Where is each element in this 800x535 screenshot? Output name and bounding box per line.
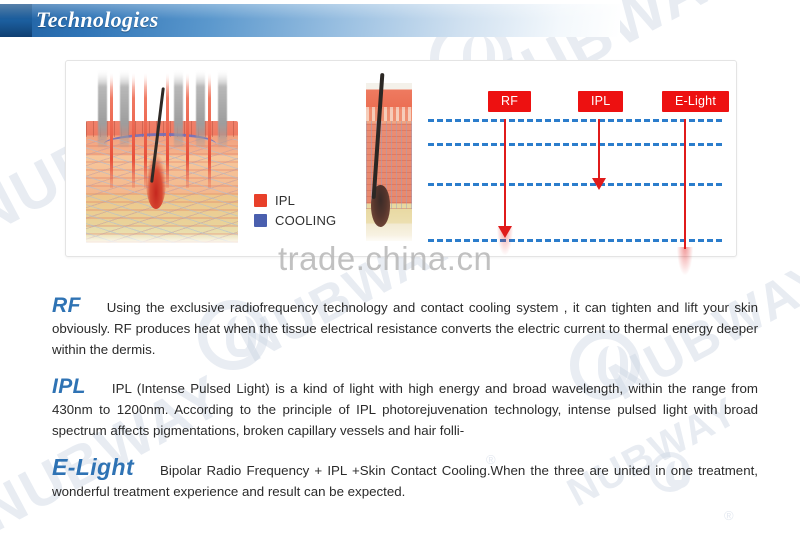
arrowhead-icon [592,178,606,190]
legend-item-ipl: IPL [254,193,336,208]
page-title: Technologies [36,7,159,33]
section-body-rf: Using the exclusive radiofrequency techn… [52,300,758,357]
section-body-e-light: Bipolar Radio Frequency + IPL +Skin Cont… [52,463,758,499]
ipl-ray [208,73,211,188]
square-swatch-icon [254,194,267,207]
legend-item-label: COOLING [275,213,336,228]
depth-label-e-light: E-Light [662,91,729,112]
ipl-ray [186,73,189,188]
section-heading-e-light: E-Light [52,454,134,480]
skin-cross-section-illustration [86,69,238,249]
fade-overlay [86,69,238,87]
square-swatch-icon [254,214,267,227]
depth-arrow-rf [504,119,506,227]
skin-layer-line [428,143,722,146]
depth-label-rf: RF [488,91,531,112]
section-heading-ipl: IPL [52,375,86,398]
section-e-light: E-LightBipolar Radio Frequency + IPL +Sk… [0,457,800,502]
page-title-banner: Technologies [0,4,620,37]
section-rf: RFUsing the exclusive radiofrequency tec… [0,295,800,360]
ipl-ray [166,73,169,188]
figure-panel: IPL COOLING RF IPL E-Light [65,60,737,257]
legend-item-label: IPL [275,193,295,208]
ipl-ray [110,73,113,188]
skin-layer-line [428,183,722,186]
arrow-glow [497,227,513,255]
legend-item-cooling: COOLING [254,213,336,228]
figure-legend: IPL COOLING [254,193,336,233]
section-body-ipl: IPL (Intense Pulsed Light) is a kind of … [52,381,758,438]
fade-overlay [86,233,238,249]
site-watermark: trade.china.cn [278,240,492,278]
hair-follicle-illustration [358,73,420,249]
depth-arrow-ipl [598,119,600,179]
section-ipl: IPLIPL (Intense Pulsed Light) is a kind … [0,376,800,441]
depth-label-ipl: IPL [578,91,623,112]
ipl-ray [132,73,135,188]
depth-arrow-e-light [684,119,686,249]
epidermis-texture [366,107,412,121]
body-content: RFUsing the exclusive radiofrequency tec… [0,282,800,516]
hair-follicle [146,155,166,209]
section-heading-rf: RF [52,294,81,317]
penetration-depth-chart: RF IPL E-Light [426,69,724,249]
skin-layer-line [428,119,722,122]
arrow-glow [677,247,693,275]
